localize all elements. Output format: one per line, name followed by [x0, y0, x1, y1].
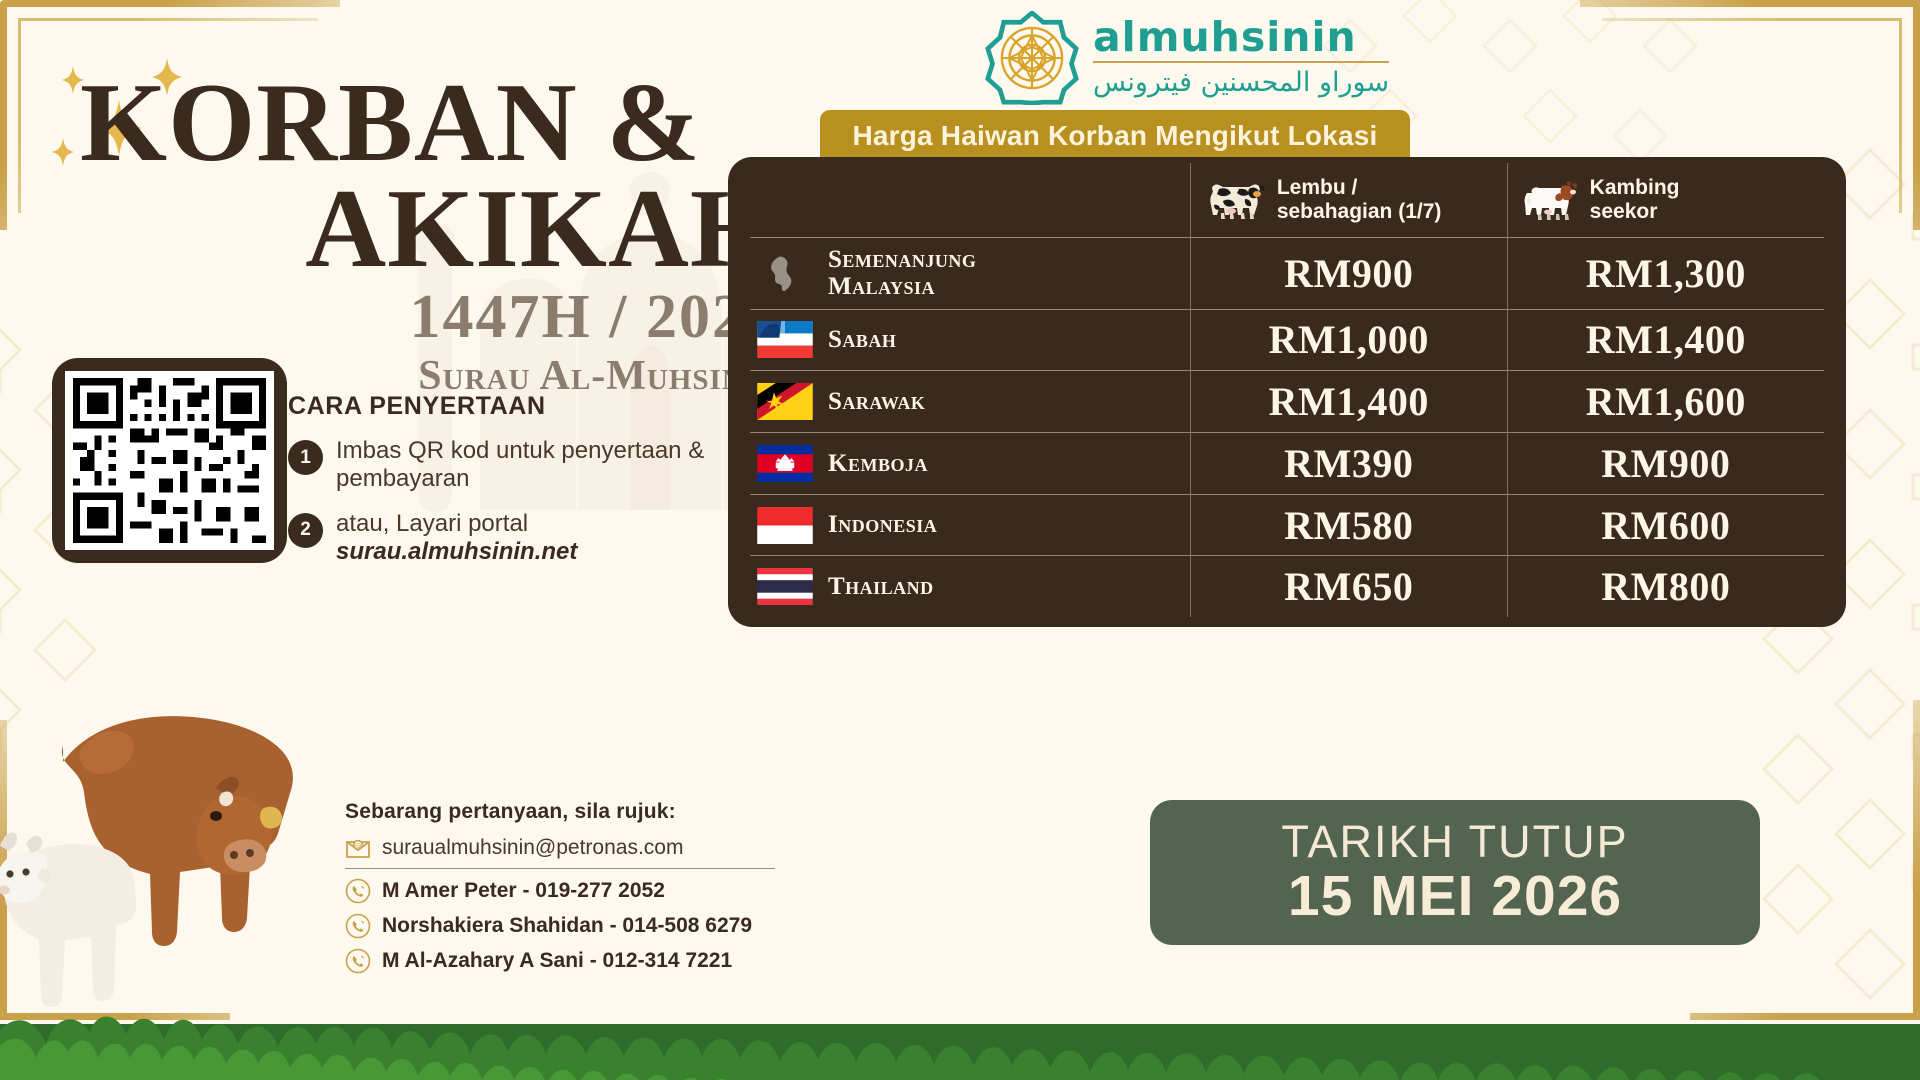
step-number-badge: 1: [288, 440, 323, 475]
cell-goat-price: RM1,400: [1507, 309, 1824, 371]
location-name: Semenanjung Malaysia: [828, 246, 976, 301]
brand-divider: [1093, 61, 1389, 63]
location-name-line2: Malaysia: [828, 273, 976, 301]
headline-year: 1447H / 2026: [80, 283, 800, 352]
table-row: Semenanjung Malaysia RM900 RM1,300: [750, 237, 1824, 309]
cell-goat-price: RM900: [1507, 432, 1824, 494]
cell-location: Semenanjung Malaysia: [750, 237, 1190, 309]
deadline-date: 15 MEI 2026: [1288, 865, 1622, 928]
location-name-line1: Semenanjung: [828, 246, 976, 274]
cell-location: Kemboja: [750, 432, 1190, 494]
price-table-card: Lembu / sebahagian (1/7): [728, 157, 1846, 627]
cell-location: Indonesia: [750, 494, 1190, 556]
goat-icon: [1522, 177, 1580, 223]
cell-location: Sabah: [750, 309, 1190, 371]
cow-icon: [1205, 177, 1267, 223]
cell-goat-price: RM600: [1507, 494, 1824, 556]
cell-goat-price: RM800: [1507, 556, 1824, 617]
cell-location: Sarawak: [750, 371, 1190, 433]
header-label-cow-line2: sebahagian (1/7): [1277, 200, 1442, 224]
brand-text: almuhsinin سوراو المحسنين فيترونس: [1093, 17, 1389, 100]
table-row: Kemboja RM390 RM900: [750, 432, 1824, 494]
sabah-flag-icon: [756, 321, 814, 358]
cell-goat-price: RM1,300: [1507, 237, 1824, 309]
sarawak-flag-icon: [756, 383, 814, 420]
brand-logo: almuhsinin سوراو المحسنين فيترونس: [985, 8, 1405, 108]
qr-code-card[interactable]: [52, 358, 287, 563]
headline-block: KORBAN & AKIKAH 1447H / 2026 Surau Al-Mu…: [80, 70, 800, 401]
poster-canvas: KORBAN & AKIKAH 1447H / 2026 Surau Al-Mu…: [0, 0, 1920, 1080]
price-table-banner: Harga Haiwan Korban Mengikut Lokasi: [820, 110, 1410, 162]
header-label-cow: Lembu / sebahagian (1/7): [1277, 176, 1442, 223]
header-label-goat-line1: Kambing: [1590, 176, 1680, 200]
location-name: Kemboja: [828, 450, 928, 478]
how-to-step-2: 2 atau, Layari portal surau.almuhsinin.n…: [288, 510, 708, 567]
price-table-banner-label: Harga Haiwan Korban Mengikut Lokasi: [852, 120, 1377, 152]
step-text: Imbas QR kod untuk penyertaan & pembayar…: [336, 437, 708, 494]
how-to-participate-block: CARA PENYERTAAN 1 Imbas QR kod untuk pen…: [288, 392, 708, 566]
brand-name: almuhsinin: [1093, 17, 1389, 58]
table-row: Sarawak RM1,400 RM1,600: [750, 371, 1824, 433]
thailand-flag-icon: [756, 568, 814, 605]
contact-person[interactable]: M Al-Azahary A Sani - 012-314 7221: [382, 949, 732, 973]
cambodia-flag-icon: [756, 445, 814, 482]
location-name: Sabah: [828, 326, 896, 354]
cell-cow-price: RM1,000: [1190, 309, 1507, 371]
step-text: atau, Layari portal: [336, 510, 528, 537]
deadline-box: TARIKH TUTUP 15 MEI 2026: [1150, 800, 1760, 945]
cell-cow-price: RM900: [1190, 237, 1507, 309]
qr-code[interactable]: [65, 371, 274, 550]
cell-cow-price: RM1,400: [1190, 371, 1507, 433]
peninsular-malaysia-map-icon: [756, 255, 814, 292]
islamic-geometric-star-icon: [985, 11, 1079, 105]
header-label-cow-line1: Lembu /: [1277, 176, 1442, 200]
sparkle-icon-tiny-b: [52, 138, 74, 166]
step-text-wrapper: atau, Layari portal surau.almuhsinin.net: [336, 510, 577, 567]
step-number-badge: 2: [288, 513, 323, 548]
cell-goat-price: RM1,600: [1507, 371, 1824, 433]
contact-email[interactable]: suraualmuhsinin@petronas.com: [382, 836, 683, 860]
deadline-label: TARIKH TUTUP: [1281, 818, 1628, 865]
cell-cow-price: RM580: [1190, 494, 1507, 556]
cell-cow-price: RM390: [1190, 432, 1507, 494]
grass-strip: [0, 984, 1920, 1080]
headline-line-2: AKIKAH: [80, 176, 800, 282]
table-row: Indonesia RM580 RM600: [750, 494, 1824, 556]
brand-name-arabic: سوراو المحسنين فيترونس: [1093, 66, 1389, 100]
headline-line-1: KORBAN &: [80, 70, 800, 176]
price-table-header-row: Lembu / sebahagian (1/7): [750, 163, 1824, 237]
header-label-goat: Kambing seekor: [1590, 176, 1680, 223]
how-to-step-1: 1 Imbas QR kod untuk penyertaan & pembay…: [288, 437, 708, 494]
table-row: Sabah RM1,000 RM1,400: [750, 309, 1824, 371]
header-label-goat-line2: seekor: [1590, 200, 1680, 224]
header-cell-cow: Lembu / sebahagian (1/7): [1190, 163, 1507, 237]
table-row: Thailand RM650 RM800: [750, 556, 1824, 617]
how-to-title: CARA PENYERTAAN: [288, 392, 708, 421]
header-cell-location: [750, 163, 1190, 237]
location-name: Sarawak: [828, 388, 925, 416]
location-name: Thailand: [828, 573, 934, 601]
cell-location: Thailand: [750, 556, 1190, 617]
header-cell-goat: Kambing seekor: [1507, 163, 1824, 237]
cell-cow-price: RM650: [1190, 556, 1507, 617]
contact-person[interactable]: M Amer Peter - 019-277 2052: [382, 879, 665, 903]
price-table: Lembu / sebahagian (1/7): [750, 163, 1824, 617]
cow-and-goat-photo: [0, 612, 418, 1032]
portal-link[interactable]: surau.almuhsinin.net: [336, 538, 577, 566]
indonesia-flag-icon: [756, 507, 814, 544]
location-name: Indonesia: [828, 511, 937, 539]
contact-person[interactable]: Norshakiera Shahidan - 014-508 6279: [382, 914, 752, 938]
